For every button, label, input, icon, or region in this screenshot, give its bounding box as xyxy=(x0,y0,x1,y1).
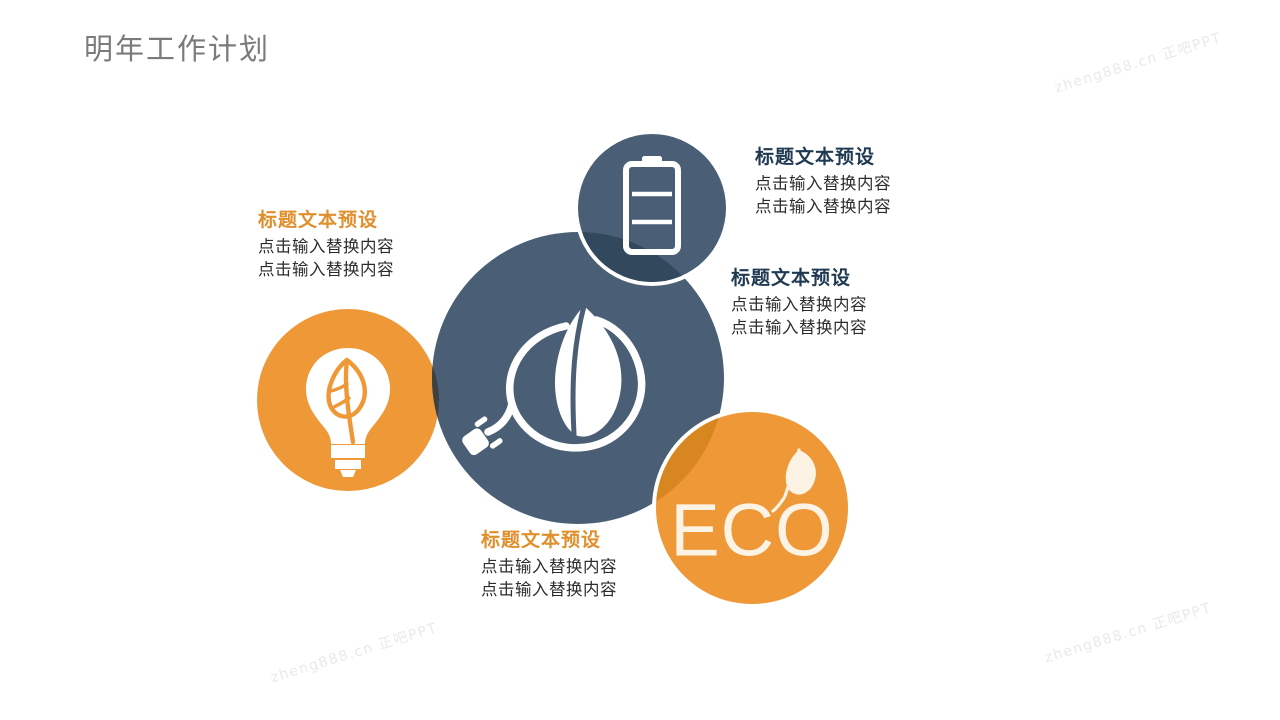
text-block-bottom-heading: 标题文本预设 xyxy=(481,529,617,553)
text-block-right-line-1: 点击输入替换内容 xyxy=(731,294,867,317)
text-block-top-right-line-1: 点击输入替换内容 xyxy=(755,173,891,196)
text-block-left: 标题文本预设 点击输入替换内容 点击输入替换内容 xyxy=(258,209,394,281)
text-block-right-line-2: 点击输入替换内容 xyxy=(731,317,867,340)
text-block-right: 标题文本预设 点击输入替换内容 点击输入替换内容 xyxy=(731,267,867,339)
text-block-left-line-1: 点击输入替换内容 xyxy=(258,236,394,259)
text-block-left-heading: 标题文本预设 xyxy=(258,209,394,233)
eco-label: ECO xyxy=(670,489,833,572)
text-block-top-right: 标题文本预设 点击输入替换内容 点击输入替换内容 xyxy=(755,146,891,218)
text-block-bottom-line-2: 点击输入替换内容 xyxy=(481,579,617,602)
text-block-left-line-2: 点击输入替换内容 xyxy=(258,259,394,282)
eco-venn-diagram: ECO xyxy=(0,0,1280,720)
text-block-right-heading: 标题文本预设 xyxy=(731,267,867,291)
text-block-bottom-line-1: 点击输入替换内容 xyxy=(481,556,617,579)
text-block-top-right-line-2: 点击输入替换内容 xyxy=(755,196,891,219)
text-block-bottom: 标题文本预设 点击输入替换内容 点击输入替换内容 xyxy=(481,529,617,601)
text-block-top-right-heading: 标题文本预设 xyxy=(755,146,891,170)
slide-canvas: 明年工作计划 xyxy=(0,0,1280,720)
